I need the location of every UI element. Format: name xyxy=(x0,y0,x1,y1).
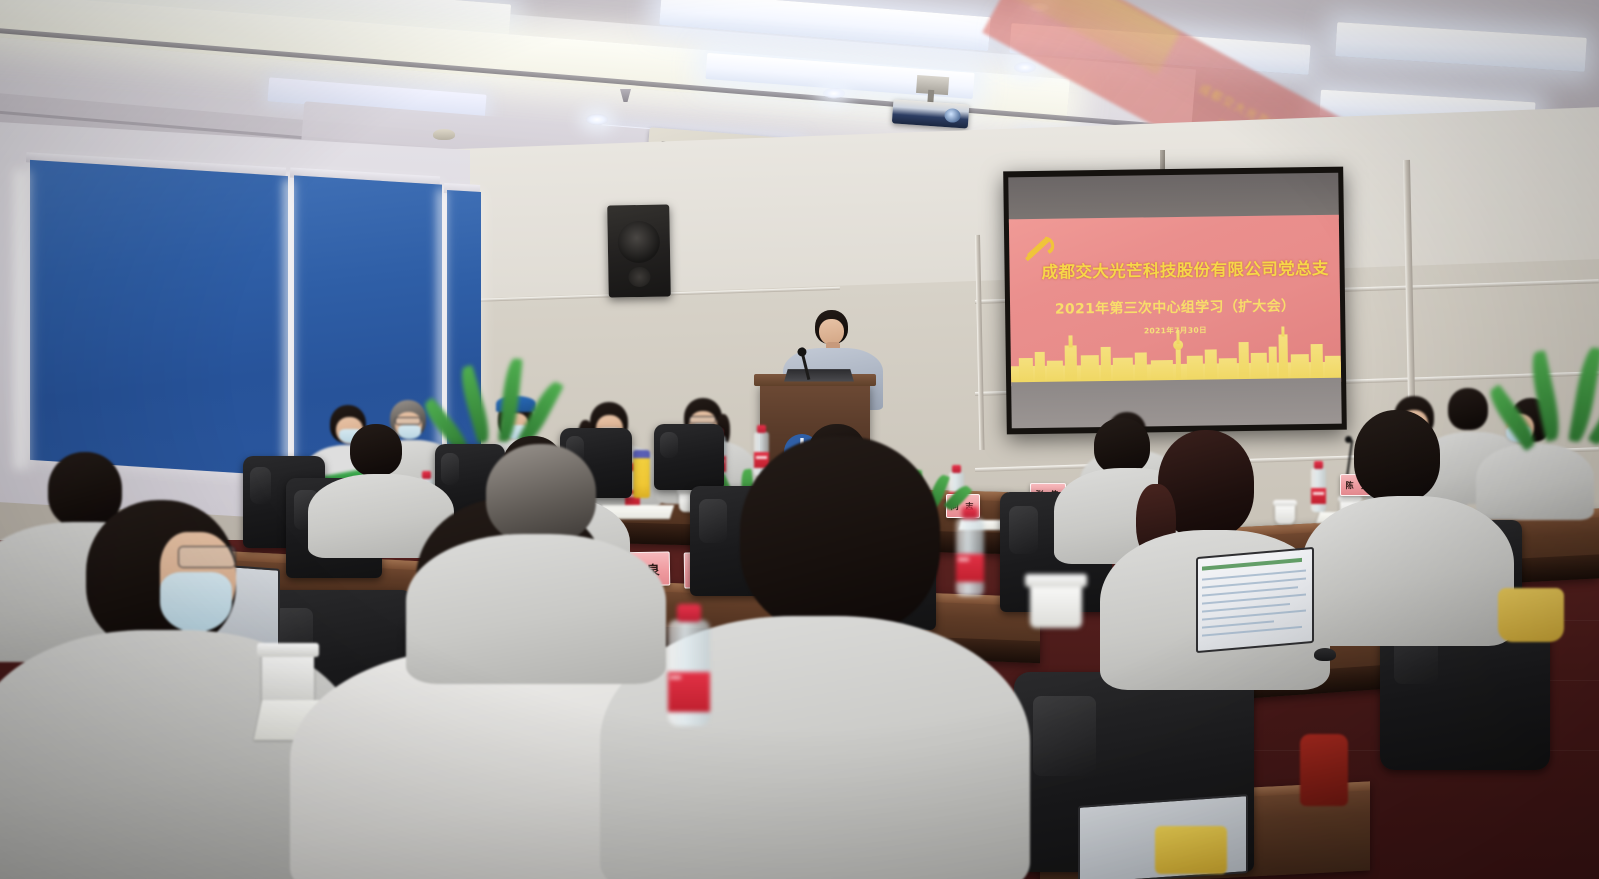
plant-leaf xyxy=(498,358,523,443)
attendee-head xyxy=(1354,410,1440,502)
paper-cup xyxy=(262,652,314,704)
bottle-cap xyxy=(757,425,766,433)
downlight-icon xyxy=(1014,62,1036,73)
skyline-graphic xyxy=(1010,324,1341,387)
bottle-label xyxy=(956,554,984,582)
paper-cup xyxy=(1030,582,1082,628)
water-bottle xyxy=(956,518,984,596)
attendee-torso xyxy=(1302,496,1514,646)
pa-speaker xyxy=(607,204,671,297)
plant-leaf xyxy=(457,365,494,444)
ceiling-led-panel xyxy=(1335,22,1587,72)
attendee xyxy=(1316,410,1506,640)
computer-mouse[interactable] xyxy=(1314,648,1336,661)
window-light-leak xyxy=(14,169,36,470)
spreadsheet-header xyxy=(1202,558,1302,571)
yellow-bag xyxy=(1498,588,1564,642)
plant-leaf xyxy=(1527,350,1563,442)
bottle-cap xyxy=(962,507,978,519)
downlight-icon xyxy=(823,88,845,99)
bottle-label xyxy=(668,672,710,712)
party-emblem-icon xyxy=(1023,233,1057,263)
yellow-object xyxy=(1155,826,1227,874)
attendee xyxy=(426,444,636,644)
ceiling-projector xyxy=(891,81,970,134)
cup-lid xyxy=(1025,574,1087,587)
projection-screen: 成都交大光芒科技股份有限公司党总支 2021年第三次中心组学习（扩大会） 202… xyxy=(1003,167,1347,435)
floor-plant xyxy=(1520,310,1599,480)
attendee-head xyxy=(740,436,940,634)
window-blind-left[interactable] xyxy=(30,160,288,476)
attendee-torso xyxy=(406,534,666,684)
laptop[interactable] xyxy=(1196,547,1314,653)
laptop-screen xyxy=(1196,547,1314,653)
slide-subtitle: 2021年第三次中心组学习（扩大会） xyxy=(1010,295,1340,320)
red-bottle xyxy=(1300,734,1348,806)
podium-laptop xyxy=(784,369,854,381)
eyeglasses-icon xyxy=(178,546,236,568)
bottle-cap xyxy=(677,604,701,622)
spreadsheet-row xyxy=(1202,620,1274,628)
window-light-leak xyxy=(284,180,298,466)
water-bottle xyxy=(668,620,710,726)
slide-title: 成都交大光芒科技股份有限公司党总支 xyxy=(1041,261,1333,282)
spreadsheet-row xyxy=(1202,626,1302,637)
cup-lid xyxy=(257,643,319,657)
eyeglasses-icon xyxy=(689,416,716,424)
slide-content: 成都交大光芒科技股份有限公司党总支 2021年第三次中心组学习（扩大会） 202… xyxy=(1009,215,1341,387)
attendee-head xyxy=(350,424,402,476)
downlight-icon xyxy=(586,114,608,125)
smoke-detector-icon xyxy=(433,129,455,140)
conference-room-photo: 成都交大光芒科技股份有限公司党总支 学党史 悟思想 2021 xyxy=(0,0,1599,879)
attendee-head xyxy=(486,444,596,544)
face-mask xyxy=(160,572,232,632)
